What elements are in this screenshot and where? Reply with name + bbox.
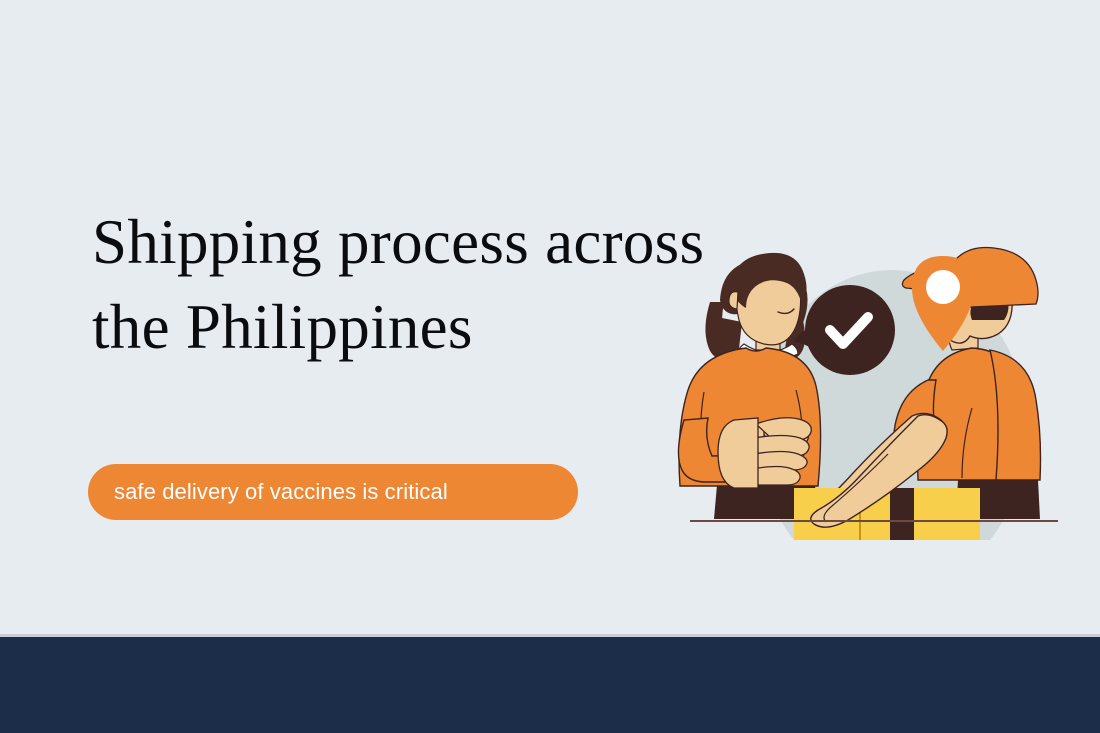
status-badge: safe delivery of vaccines is critical [88,464,578,520]
woman-hand-over-box [718,418,811,488]
package-handoff-illustration [660,240,1100,540]
status-badge-label: safe delivery of vaccines is critical [114,479,448,505]
bottom-bar [0,637,1100,733]
page-title: Shipping process across the Philippines [92,200,752,370]
slide-canvas: Shipping process across the Philippines … [0,0,1100,733]
